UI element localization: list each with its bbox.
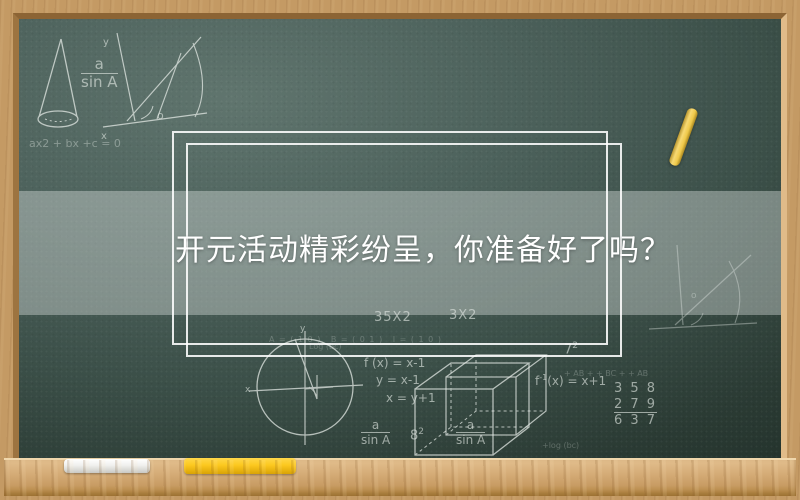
angle-label-right: o	[691, 291, 697, 301]
chalk-ledge	[4, 458, 796, 496]
chalk-stick-yellow-ledge	[184, 458, 296, 474]
headline-text: 开元活动精彩纷呈，你准备好了吗？	[175, 225, 671, 269]
chalk-stick-yellow-board	[668, 107, 699, 167]
chalk-stick-white-ledge	[64, 459, 150, 473]
log-label-2-bottomright: +log (bc)	[542, 441, 579, 450]
cube-wireframe-bottomright-icon	[413, 359, 541, 458]
axis-label-y-topleft: y	[103, 37, 109, 48]
wooden-frame: a sin A y x o ax2 + bx +c = 0 f (x) = x-…	[0, 0, 800, 500]
inverse-function-bottomright: f-1(x) = x+1	[535, 373, 606, 388]
angle-diagram-topleft-icon	[97, 25, 217, 145]
chalkboard-surface: a sin A y x o ax2 + bx +c = 0 f (x) = x-…	[19, 19, 781, 458]
axis-label-x-bottomright: x	[245, 385, 250, 395]
arith-row-2: 2 7 9	[614, 397, 657, 414]
arith-row-1: 3 5 8	[614, 381, 657, 397]
arithmetic-column-bottomright: 3 5 8 2 7 9 6 3 7	[614, 381, 657, 429]
cone-sketch-icon	[29, 31, 99, 151]
arith-row-3: 6 3 7	[614, 413, 657, 429]
angle-label-topleft: o	[157, 109, 164, 122]
quadratic-equation-topleft: ax2 + bx +c = 0	[29, 137, 121, 150]
